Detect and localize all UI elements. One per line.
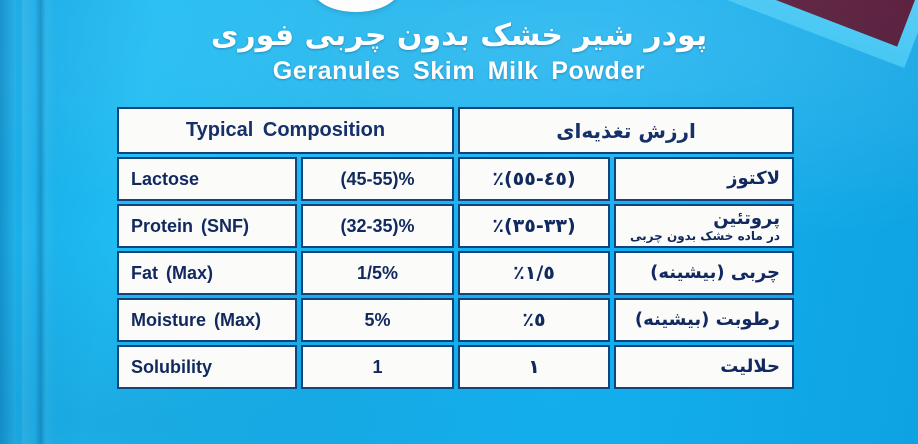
table-header-row: Typical Composition ارزش تغذیه‌ای	[117, 107, 794, 154]
cell-component-name-fa: حلالیت	[614, 345, 794, 389]
component-value-en: 1	[303, 357, 452, 378]
cell-component-value-en: (32-35)%	[301, 204, 454, 248]
component-value-fa: ١	[460, 356, 608, 378]
component-name-fa-main: پروتئین	[713, 208, 780, 229]
nutrition-table: Typical Composition ارزش تغذیه‌ای Lactos…	[113, 104, 798, 392]
component-value-fa: (٣٣-٣٥)٪	[460, 215, 608, 237]
cell-component-value-fa: (٤٥-٥٥)٪	[458, 157, 610, 201]
component-name-en: Protein (SNF)	[119, 216, 295, 237]
cell-component-value-en: 1	[301, 345, 454, 389]
cell-component-name-en: Solubility	[117, 345, 297, 389]
cell-component-name-fa: رطوبت (بیشینه)	[614, 298, 794, 342]
component-name-en: Fat (Max)	[119, 263, 295, 284]
product-titles: پودر شیر خشک بدون چربی فوری Geranules Sk…	[0, 18, 918, 86]
cell-component-name-en: Moisture (Max)	[117, 298, 297, 342]
cell-component-name-en: Protein (SNF)	[117, 204, 297, 248]
product-title-english: Geranules Skim Milk Powder	[0, 57, 918, 86]
component-name-en: Solubility	[119, 357, 295, 378]
nutrition-table-container: Typical Composition ارزش تغذیه‌ای Lactos…	[113, 104, 793, 392]
component-name-fa: رطوبت (بیشینه)	[616, 310, 792, 330]
product-package-photo: پودر شیر خشک بدون چربی فوری Geranules Sk…	[0, 0, 918, 444]
cell-component-value-fa: (٣٣-٣٥)٪	[458, 204, 610, 248]
table-row: Protein (SNF) (32-35)% (٣٣-٣٥)٪ پروتئین …	[117, 204, 794, 248]
cell-component-value-fa: ١	[458, 345, 610, 389]
nutrition-table-head: Typical Composition ارزش تغذیه‌ای	[117, 107, 794, 154]
cell-component-value-fa: ٥٪	[458, 298, 610, 342]
component-value-fa: (٤٥-٥٥)٪	[460, 168, 608, 190]
nutrition-table-body: Lactose (45-55)% (٤٥-٥٥)٪ لاکتوز	[117, 157, 794, 389]
component-value-en: 1/5%	[303, 263, 452, 284]
header-label-persian: ارزش تغذیه‌ای	[460, 119, 792, 143]
cell-component-value-en: (45-55)%	[301, 157, 454, 201]
component-name-fa-main: حلالیت	[720, 356, 780, 377]
component-name-fa: چربی (بیشینه)	[616, 263, 792, 283]
header-cell-persian: ارزش تغذیه‌ای	[458, 107, 794, 154]
component-name-fa: پروتئین در ماده خشک بدون چربی	[616, 209, 792, 243]
cell-component-name-fa: لاکتوز	[614, 157, 794, 201]
cell-component-name-fa: پروتئین در ماده خشک بدون چربی	[614, 204, 794, 248]
component-value-fa: ١/٥٪	[460, 262, 608, 284]
header-cell-english: Typical Composition	[117, 107, 454, 154]
component-value-fa: ٥٪	[460, 309, 608, 331]
component-name-fa-main: چربی (بیشینه)	[650, 262, 780, 283]
component-name-en: Moisture (Max)	[119, 310, 295, 331]
table-row: Moisture (Max) 5% ٥٪ رطوبت (بیشینه)	[117, 298, 794, 342]
table-row: Lactose (45-55)% (٤٥-٥٥)٪ لاکتوز	[117, 157, 794, 201]
cell-component-value-fa: ١/٥٪	[458, 251, 610, 295]
component-value-en: 5%	[303, 310, 452, 331]
header-label-english: Typical Composition	[119, 119, 452, 142]
cell-component-value-en: 1/5%	[301, 251, 454, 295]
component-name-fa-sub: در ماده خشک بدون چربی	[616, 230, 780, 243]
table-row: Solubility 1 ١ حلالیت	[117, 345, 794, 389]
component-name-fa-main: رطوبت (بیشینه)	[635, 309, 780, 330]
cell-component-value-en: 5%	[301, 298, 454, 342]
component-name-fa-main: لاکتوز	[727, 168, 780, 189]
component-name-fa: لاکتوز	[616, 169, 792, 189]
cell-component-name-fa: چربی (بیشینه)	[614, 251, 794, 295]
cell-component-name-en: Fat (Max)	[117, 251, 297, 295]
product-title-persian: پودر شیر خشک بدون چربی فوری	[0, 18, 918, 53]
component-value-en: (32-35)%	[303, 216, 452, 237]
cell-component-name-en: Lactose	[117, 157, 297, 201]
component-value-en: (45-55)%	[303, 169, 452, 190]
component-name-en: Lactose	[119, 169, 295, 190]
table-row: Fat (Max) 1/5% ١/٥٪ چربی (بیشینه)	[117, 251, 794, 295]
component-name-fa: حلالیت	[616, 357, 792, 377]
